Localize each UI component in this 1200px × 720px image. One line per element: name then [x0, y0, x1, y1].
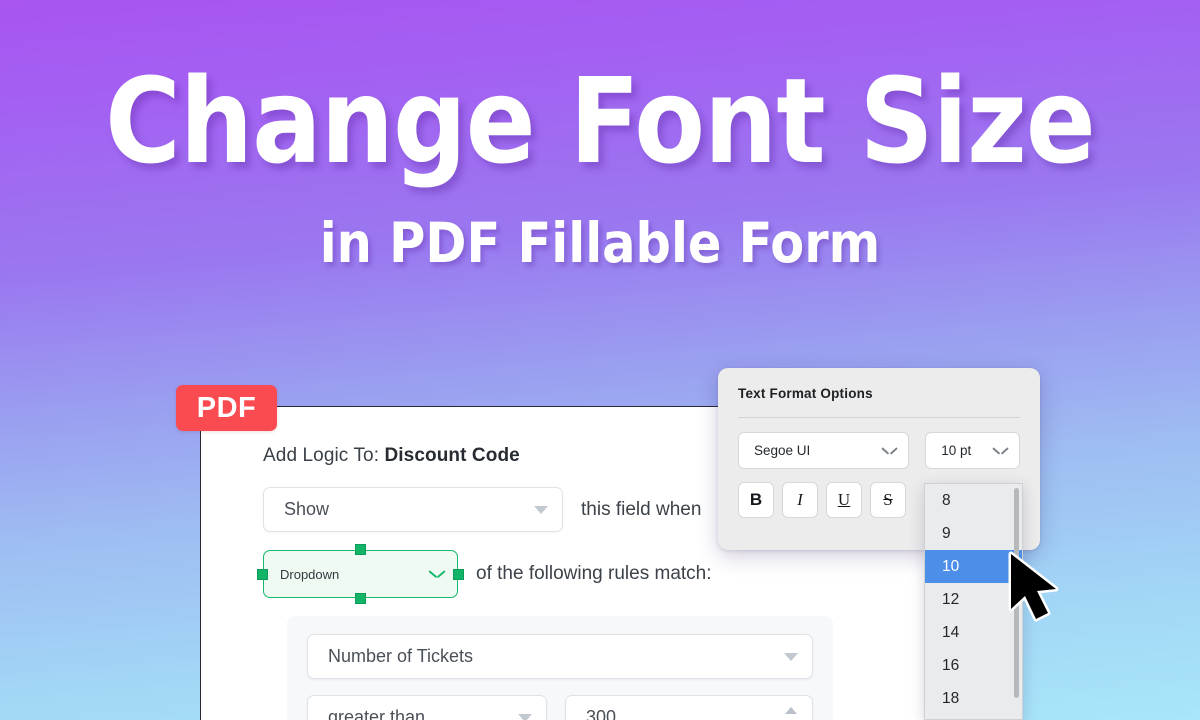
- resize-handle-top[interactable]: [355, 544, 366, 555]
- resize-handle-right[interactable]: [453, 569, 464, 580]
- underline-button[interactable]: U: [826, 482, 862, 518]
- page-title: Change Font Size: [18, 62, 1182, 180]
- rule-operator-select[interactable]: greater than: [307, 695, 547, 720]
- rule-value-input[interactable]: 300: [565, 695, 813, 720]
- chevron-down-icon: [993, 447, 1008, 455]
- rules-panel: Number of Tickets greater than 300: [287, 616, 833, 720]
- match-select-value: Dropdown: [280, 567, 429, 582]
- dropdown-option-selected[interactable]: 10: [925, 550, 1022, 583]
- font-family-select-value: Segoe UI: [754, 443, 882, 458]
- rule-value-input-value: 300: [586, 707, 785, 720]
- caret-down-icon: [518, 714, 532, 720]
- dropdown-option[interactable]: 16: [925, 649, 1022, 682]
- dropdown-option[interactable]: 9: [925, 517, 1022, 550]
- dropdown-option[interactable]: 18: [925, 682, 1022, 715]
- dropdown-option[interactable]: 14: [925, 616, 1022, 649]
- hero-section: Change Font Size in PDF Fillable Form: [0, 62, 1200, 271]
- italic-button[interactable]: I: [782, 482, 818, 518]
- match-row: Dropdown of the following rules match:: [263, 550, 980, 598]
- rule-condition-row: greater than 300: [307, 695, 813, 720]
- chevron-down-icon: [882, 447, 897, 455]
- font-size-select-value: 10 pt: [941, 443, 993, 458]
- text-format-panel-title: Text Format Options: [738, 386, 1020, 401]
- panel-divider: [738, 417, 1020, 418]
- match-row-label: of the following rules match:: [476, 563, 712, 585]
- selected-element-wrapper: Dropdown: [263, 550, 458, 598]
- add-logic-prefix: Add Logic To:: [263, 445, 384, 466]
- caret-down-icon: [534, 506, 548, 514]
- resize-handle-left[interactable]: [257, 569, 268, 580]
- pdf-badge: PDF: [176, 385, 277, 431]
- resize-handle-bottom[interactable]: [355, 593, 366, 604]
- rule-field-select[interactable]: Number of Tickets: [307, 634, 813, 679]
- match-select[interactable]: Dropdown: [263, 550, 458, 598]
- dropdown-option[interactable]: 12: [925, 583, 1022, 616]
- dropdown-scrollbar[interactable]: [1014, 488, 1019, 698]
- caret-down-icon: [784, 653, 798, 661]
- rule-field-select-value: Number of Tickets: [328, 646, 784, 667]
- dropdown-option[interactable]: 8: [925, 484, 1022, 517]
- action-select[interactable]: Show: [263, 487, 563, 532]
- chevron-down-icon: [429, 570, 445, 579]
- font-family-select[interactable]: Segoe UI: [738, 432, 909, 469]
- font-size-select[interactable]: 10 pt: [925, 432, 1020, 469]
- action-row-label: this field when: [581, 499, 701, 521]
- page-subtitle: in PDF Fillable Form: [0, 216, 1200, 271]
- action-select-value: Show: [284, 499, 534, 520]
- font-size-dropdown-list[interactable]: 8 9 10 12 14 16 18: [924, 483, 1023, 720]
- add-logic-field-name: Discount Code: [384, 445, 519, 466]
- font-controls-row: Segoe UI 10 pt: [738, 432, 1020, 469]
- stepper-arrows-icon[interactable]: [785, 707, 798, 720]
- rule-operator-select-value: greater than: [328, 707, 518, 720]
- bold-button[interactable]: B: [738, 482, 774, 518]
- strikethrough-button[interactable]: S: [870, 482, 906, 518]
